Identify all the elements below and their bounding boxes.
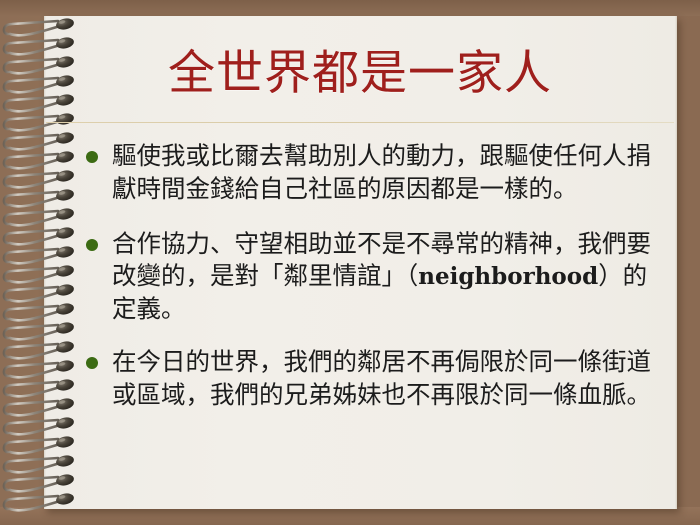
bullet-list: 驅使我或比爾去幫助別人的動力，跟驅使任何人捐獻時間金錢給自己社區的原因都是一樣的… xyxy=(86,140,666,434)
slide-title: 全世界都是一家人 xyxy=(60,48,660,100)
paper-left-edge xyxy=(44,16,46,509)
paper-right-edge xyxy=(675,16,677,509)
bullet-dot-icon xyxy=(86,151,98,163)
title-divider-rule xyxy=(46,122,674,123)
list-item: 驅使我或比爾去幫助別人的動力，跟驅使任何人捐獻時間金錢給自己社區的原因都是一樣的… xyxy=(86,140,666,206)
bullet-text-1: 驅使我或比爾去幫助別人的動力，跟驅使任何人捐獻時間金錢給自己社區的原因都是一樣的… xyxy=(112,140,666,206)
bullet-text-3: 在今日的世界，我們的鄰居不再侷限於同一條街道或區域，我們的兄弟姊妹也不再限於同一… xyxy=(112,346,666,412)
list-item: 在今日的世界，我們的鄰居不再侷限於同一條街道或區域，我們的兄弟姊妹也不再限於同一… xyxy=(86,346,666,412)
bullet-text-2: 合作協力、守望相助並不是不尋常的精神，我們要改變的，是對「鄰里情誼」（neigh… xyxy=(112,228,666,326)
bullet-dot-icon xyxy=(86,239,98,251)
cover-bottom-shade xyxy=(0,507,700,525)
bullet-2-latin-term: neighborhood xyxy=(418,263,598,290)
list-item: 合作協力、守望相助並不是不尋常的精神，我們要改變的，是對「鄰里情誼」（neigh… xyxy=(86,228,666,326)
slide-title-text: 全世界都是一家人 xyxy=(60,48,660,100)
cover-top-shade xyxy=(0,0,700,16)
slide-canvas: 全世界都是一家人 驅使我或比爾去幫助別人的動力，跟驅使任何人捐獻時間金錢給自己社… xyxy=(0,0,700,525)
bullet-dot-icon xyxy=(86,357,98,369)
